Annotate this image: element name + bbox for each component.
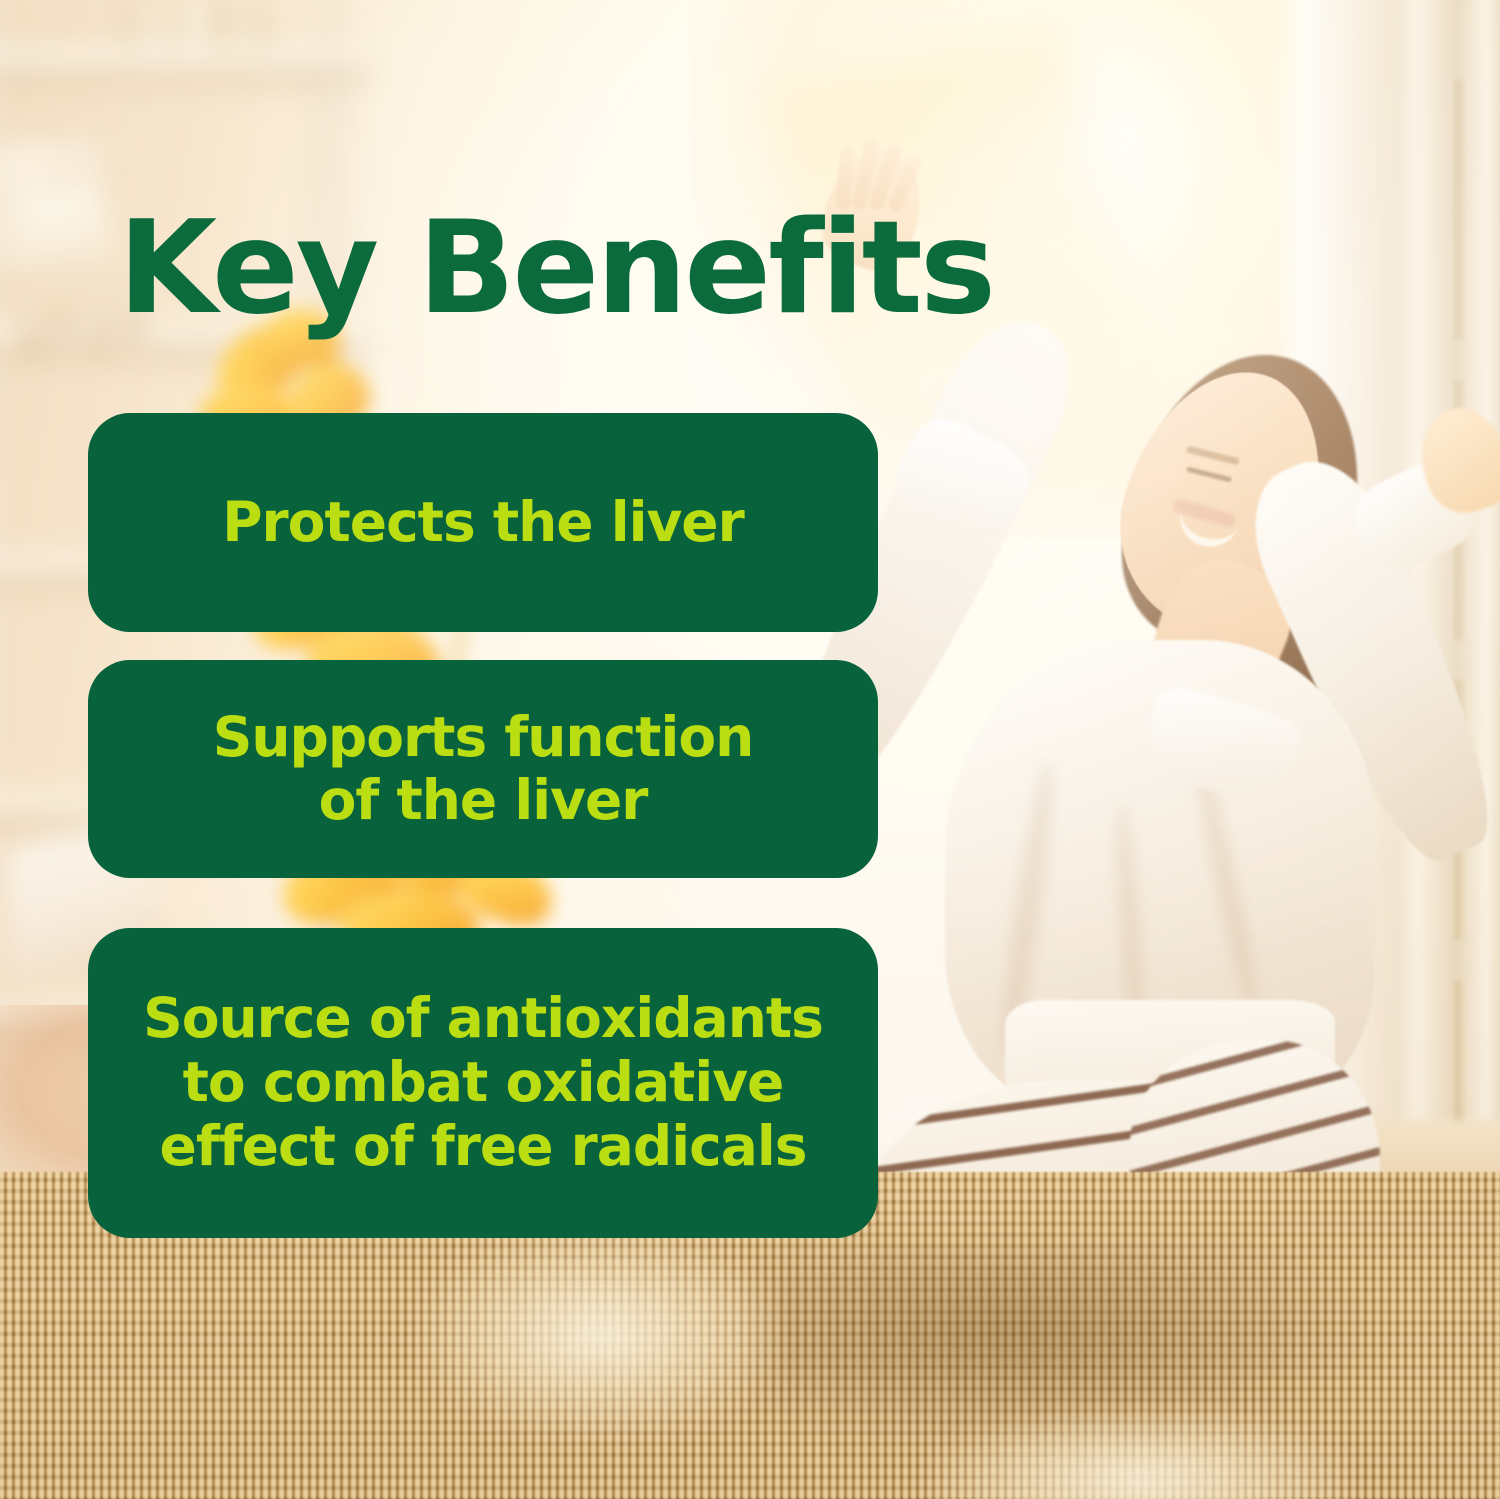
benefit-card-supports-liver-function: Supports functionof the liver xyxy=(88,660,878,878)
infographic-canvas: Key Benefits Protects the liver Supports… xyxy=(0,0,1500,1499)
benefit-label-line: Supports function xyxy=(213,705,754,769)
benefit-label: Protects the liver xyxy=(222,490,743,555)
page-title: Key Benefits xyxy=(118,205,993,333)
benefit-label-line: to combat oxidative xyxy=(183,1050,784,1114)
benefit-label: Supports functionof the liver xyxy=(213,706,754,831)
benefit-label: Source of antioxidantsto combat oxidativ… xyxy=(143,987,823,1178)
benefit-label-line: Source of antioxidants xyxy=(143,986,823,1050)
benefits-list: Protects the liver Supports functionof t… xyxy=(88,413,878,1238)
benefit-label-line: effect of free radicals xyxy=(160,1114,807,1178)
benefit-label-line: of the liver xyxy=(319,768,648,832)
overlay-content: Key Benefits Protects the liver Supports… xyxy=(0,0,1500,1499)
benefit-card-antioxidant-source: Source of antioxidantsto combat oxidativ… xyxy=(88,928,878,1238)
benefit-card-protects-liver: Protects the liver xyxy=(88,413,878,632)
